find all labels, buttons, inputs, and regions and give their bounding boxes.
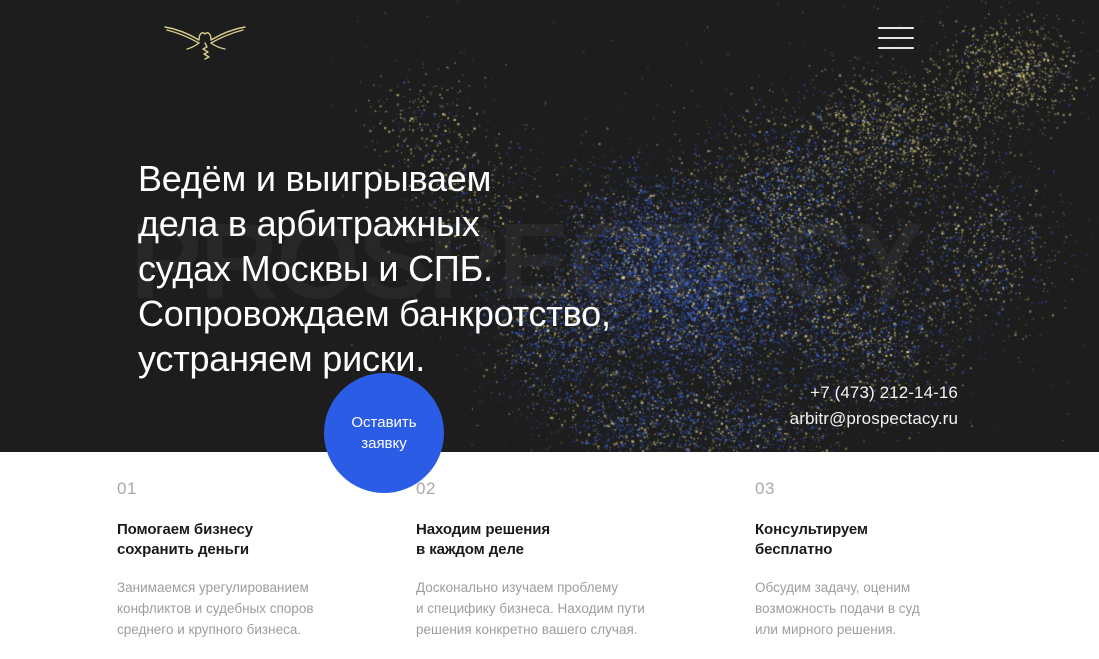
phone-link[interactable]: +7 (473) 212-14-16	[790, 380, 958, 406]
feature-description: Обсудим задачу, оценим возможность подач…	[755, 577, 1045, 640]
feature-card: 01 Помогаем бизнесу сохранить деньги Зан…	[117, 479, 407, 640]
features-section: 01 Помогаем бизнесу сохранить деньги Зан…	[0, 452, 1099, 659]
feature-card: 03 Консультируем бесплатно Обсудим задач…	[755, 479, 1045, 640]
email-link[interactable]: arbitr@prospectacy.ru	[790, 406, 958, 432]
feature-number: 03	[755, 479, 1045, 499]
eagle-wings-logo[interactable]	[155, 10, 255, 65]
burger-line-3	[878, 47, 914, 49]
hamburger-menu-icon[interactable]	[878, 27, 914, 49]
hero-section: PROSPECTACY	[0, 0, 1099, 452]
feature-number: 02	[416, 479, 706, 499]
contact-info: +7 (473) 212-14-16 arbitr@prospectacy.ru	[790, 380, 958, 432]
site-header	[0, 0, 1099, 80]
feature-card: 02 Находим решения в каждом деле Доскона…	[416, 479, 706, 640]
feature-description: Досконально изучаем проблему и специфику…	[416, 577, 706, 640]
landing-page: PROSPECTACY	[0, 0, 1099, 659]
feature-description: Занимаемся урегулированием конфликтов и …	[117, 577, 407, 640]
leave-request-button[interactable]: Оставить заявку	[324, 373, 444, 493]
burger-line-2	[878, 37, 914, 39]
feature-title: Консультируем бесплатно	[755, 520, 1045, 560]
feature-title: Помогаем бизнесу сохранить деньги	[117, 520, 407, 560]
hero-headline: Ведём и выигрываем дела в арбитражных су…	[138, 156, 611, 381]
feature-title: Находим решения в каждом деле	[416, 520, 706, 560]
burger-line-1	[878, 27, 914, 29]
